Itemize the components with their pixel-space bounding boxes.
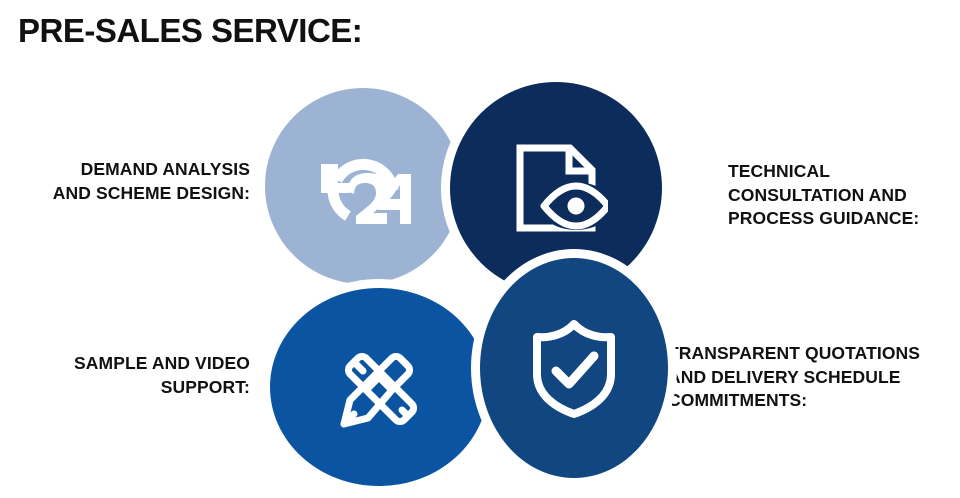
label-sample-video-support: SAMPLE AND VIDEO SUPPORT: <box>10 352 250 399</box>
circle-transparent-quotations[interactable] <box>480 258 668 478</box>
label-transparent-quotations: TRANSPARENT QUOTATIONS AND DELIVERY SCHE… <box>668 342 958 413</box>
label-technical-consultation: TECHNICAL CONSULTATION AND PROCESS GUIDA… <box>728 160 954 231</box>
document-eye-icon <box>504 136 608 240</box>
label-demand-analysis: DEMAND ANALYSIS AND SCHEME DESIGN: <box>10 158 250 205</box>
crossed-pencils-icon <box>324 332 434 442</box>
circle-demand-analysis[interactable] <box>265 88 461 284</box>
circle-sample-video-support[interactable] <box>270 288 488 486</box>
circle-cluster <box>0 0 960 498</box>
pre-sales-service-infographic: PRE-SALES SERVICE: <box>0 0 960 498</box>
24-hour-rotation-icon <box>307 134 419 238</box>
shield-check-icon <box>525 316 623 420</box>
